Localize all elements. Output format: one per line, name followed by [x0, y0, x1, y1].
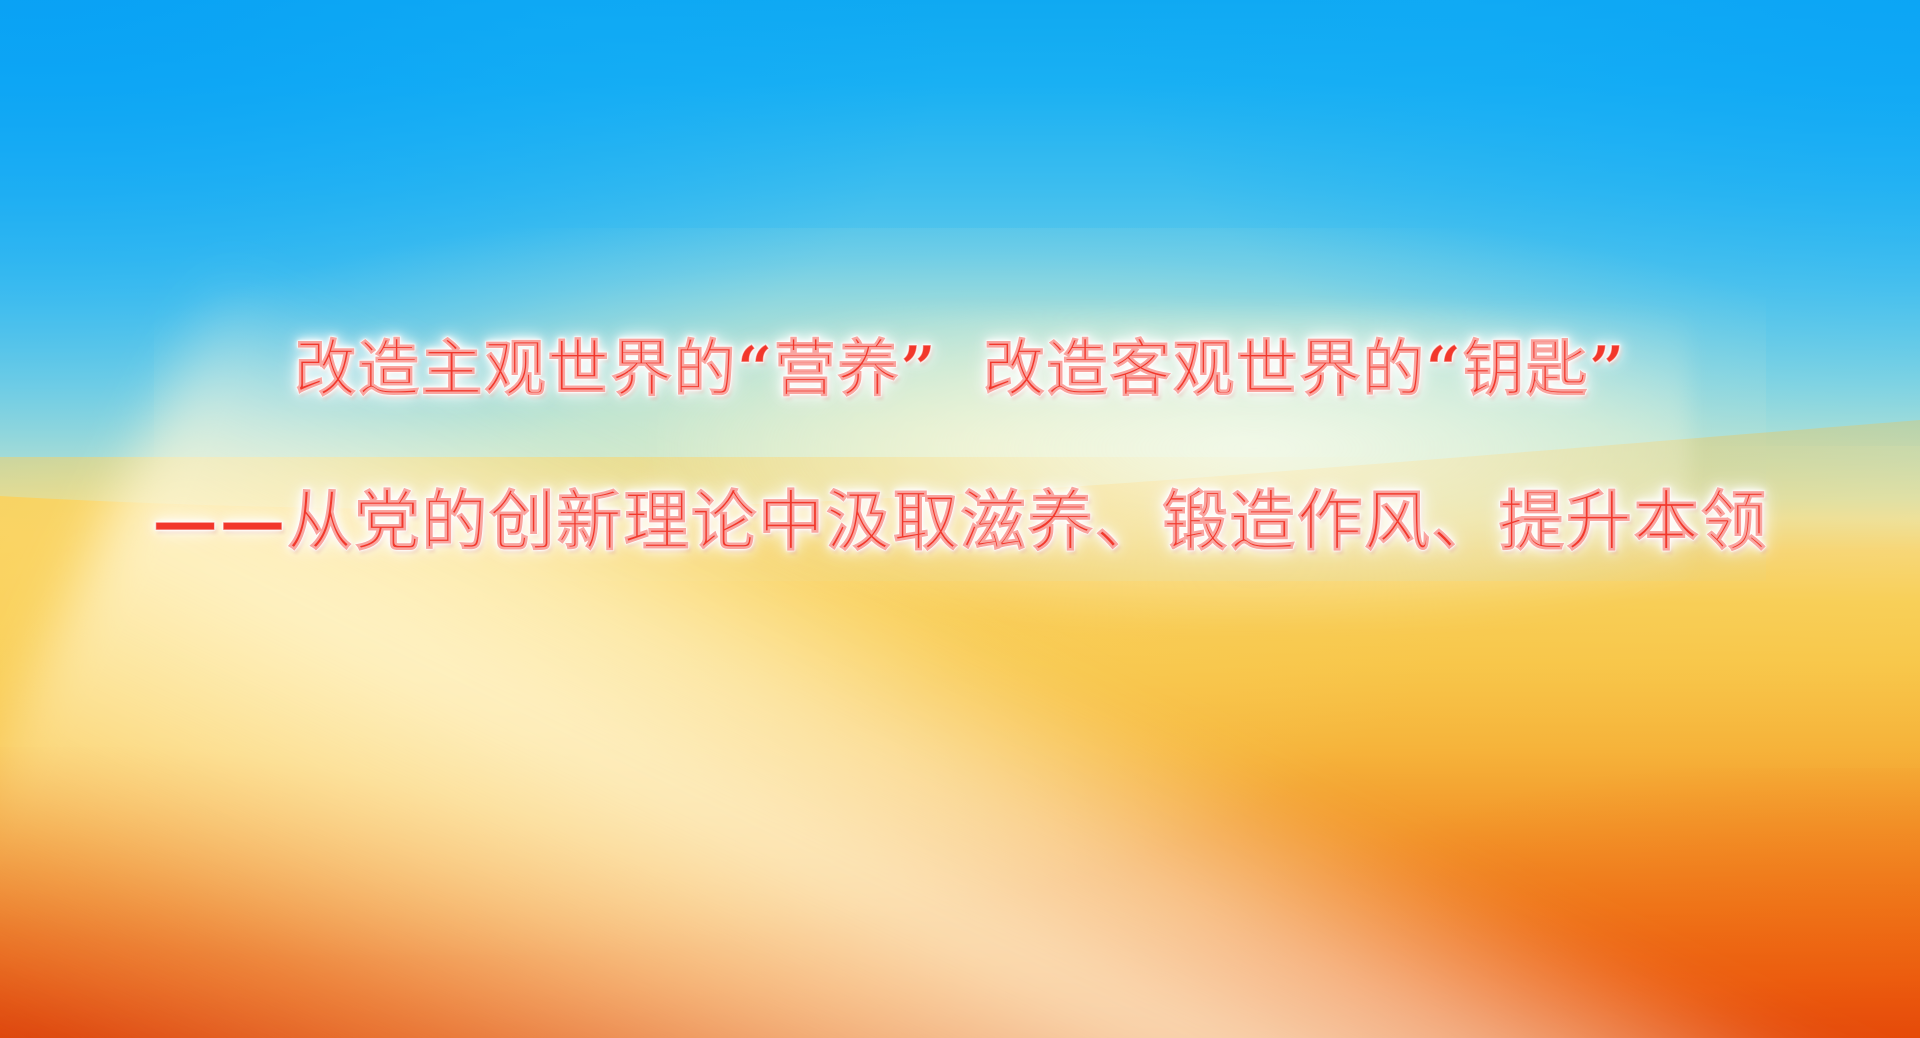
poster-subtitle: ——从党的创新理论中汲取滋养、锻造作风、提升本领 — [0, 488, 1920, 554]
poster-main-title: 改造主观世界的“营养” 改造客观世界的“钥匙” — [0, 338, 1920, 400]
background-bottom-right-orange — [998, 768, 1920, 1038]
poster-canvas: 改造主观世界的“营养” 改造客观世界的“钥匙” ——从党的创新理论中汲取滋养、锻… — [0, 0, 1920, 1038]
background-bottom-left-red — [0, 747, 922, 1038]
